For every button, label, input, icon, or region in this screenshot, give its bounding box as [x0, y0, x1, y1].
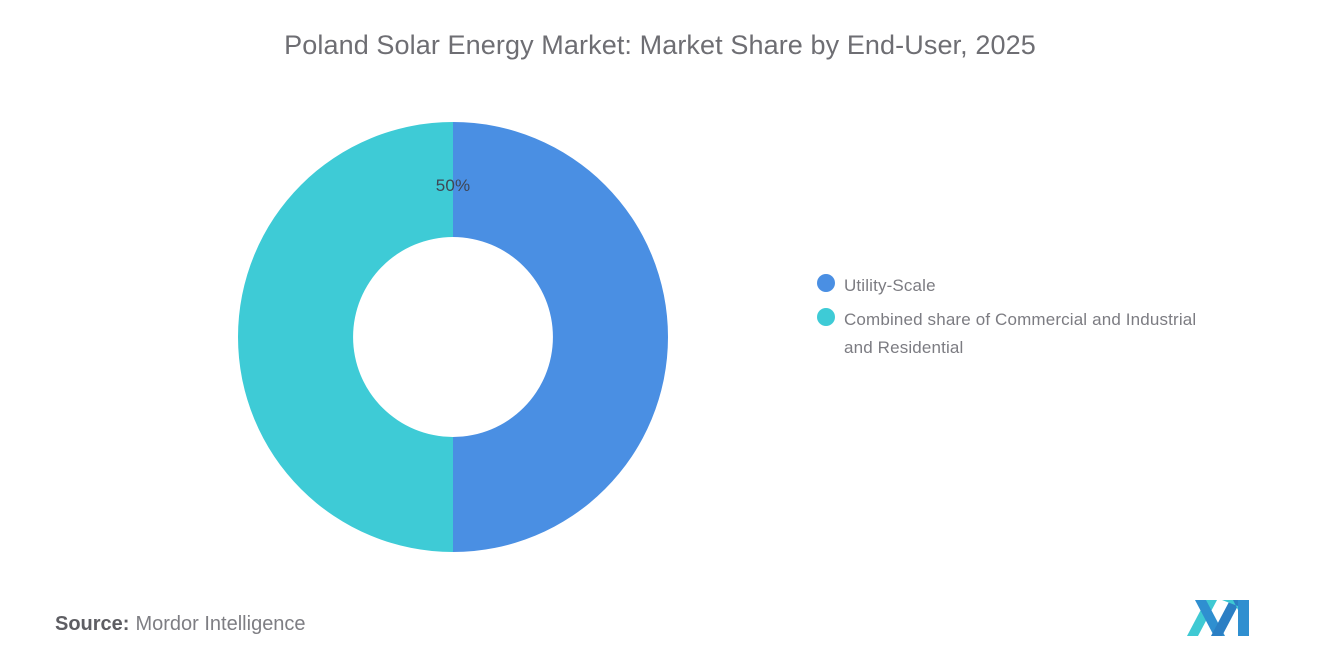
legend-item-utility-scale[interactable]: Utility-Scale [817, 272, 1237, 300]
legend-item-label: Utility-Scale [844, 272, 936, 300]
legend-swatch-icon [817, 274, 835, 292]
legend-swatch-icon [817, 308, 835, 326]
logo-svg [1186, 598, 1252, 638]
donut-chart: 50% [238, 122, 668, 552]
donut-slice-label-utility-scale: 50% [238, 176, 668, 196]
source-label: Source: [55, 613, 129, 635]
page-title: Poland Solar Energy Market: Market Share… [0, 30, 1320, 61]
legend-item-label: Combined share of Commercial and Industr… [844, 306, 1214, 362]
source-attribution: Source:Mordor Intelligence [55, 613, 306, 636]
chart-legend: Utility-Scale Combined share of Commerci… [817, 272, 1237, 368]
mordor-intelligence-logo-icon [1186, 598, 1252, 638]
source-value: Mordor Intelligence [135, 613, 305, 635]
legend-item-combined-share[interactable]: Combined share of Commercial and Industr… [817, 306, 1237, 362]
